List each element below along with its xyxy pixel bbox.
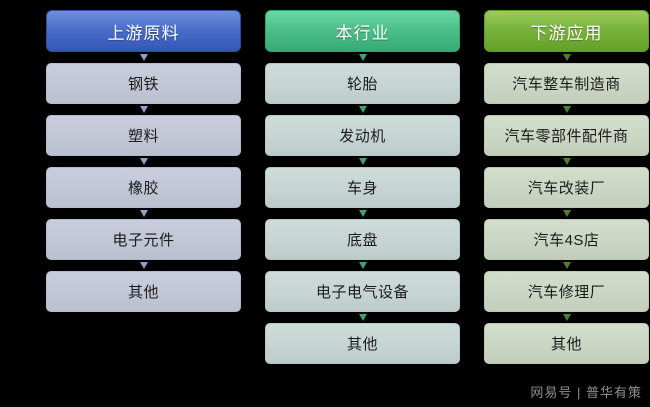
arrow-down-icon: [140, 262, 148, 269]
node-downstream-5: 其他: [484, 323, 649, 364]
node-upstream-1: 塑料: [46, 115, 241, 156]
node-industry-3: 底盘: [265, 219, 460, 260]
node-industry-1: 发动机: [265, 115, 460, 156]
node-downstream-0: 汽车整车制造商: [484, 63, 649, 104]
column-header-downstream: 下游应用: [484, 10, 649, 52]
arrow-down-icon: [563, 262, 571, 269]
arrow-down-icon: [359, 262, 367, 269]
arrow-down-icon: [563, 158, 571, 165]
arrow-down-icon: [140, 158, 148, 165]
arrow-down-icon: [359, 54, 367, 61]
column-header-industry: 本行业: [265, 10, 460, 52]
arrow-down-icon: [140, 54, 148, 61]
node-industry-2: 车身: [265, 167, 460, 208]
node-downstream-1: 汽车零部件配件商: [484, 115, 649, 156]
node-upstream-0: 钢铁: [46, 63, 241, 104]
column-downstream: 下游应用 汽车整车制造商 汽车零部件配件商 汽车改装厂 汽车4S店 汽车修理厂 …: [484, 0, 649, 407]
node-upstream-3: 电子元件: [46, 219, 241, 260]
column-upstream: 上游原料 钢铁 塑料 橡胶 电子元件 其他: [46, 0, 241, 407]
arrow-down-icon: [563, 210, 571, 217]
arrow-down-icon: [359, 210, 367, 217]
arrow-down-icon: [359, 314, 367, 321]
arrow-down-icon: [563, 314, 571, 321]
node-industry-5: 其他: [265, 323, 460, 364]
arrow-down-icon: [359, 106, 367, 113]
arrow-down-icon: [563, 106, 571, 113]
node-upstream-2: 橡胶: [46, 167, 241, 208]
node-downstream-2: 汽车改装厂: [484, 167, 649, 208]
node-industry-0: 轮胎: [265, 63, 460, 104]
arrow-down-icon: [140, 210, 148, 217]
node-industry-4: 电子电气设备: [265, 271, 460, 312]
column-industry: 本行业 轮胎 发动机 车身 底盘 电子电气设备 其他: [265, 0, 460, 407]
node-upstream-4: 其他: [46, 271, 241, 312]
node-downstream-4: 汽车修理厂: [484, 271, 649, 312]
arrow-down-icon: [563, 54, 571, 61]
industry-chain-diagram: 上游原料 钢铁 塑料 橡胶 电子元件 其他 本行业 轮胎 发动机 车身 底盘 电…: [0, 0, 650, 407]
node-downstream-3: 汽车4S店: [484, 219, 649, 260]
column-header-upstream: 上游原料: [46, 10, 241, 52]
arrow-down-icon: [359, 158, 367, 165]
arrow-down-icon: [140, 106, 148, 113]
